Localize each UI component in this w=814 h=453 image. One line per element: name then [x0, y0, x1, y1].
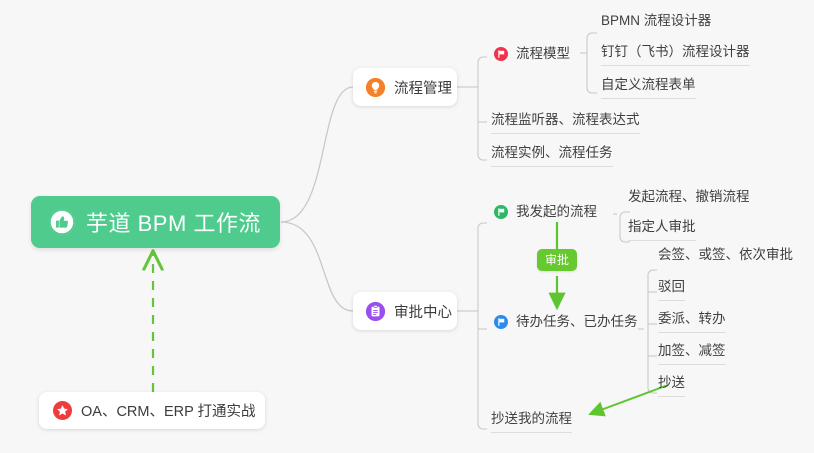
leaf-process-instance[interactable]: 流程实例、流程任务: [491, 146, 613, 167]
leaf-start-cancel-process[interactable]: 发起流程、撤销流程: [628, 190, 750, 210]
node-process-model-label: 流程模型: [516, 47, 570, 61]
leaf-assignee-approval[interactable]: 指定人审批: [628, 220, 696, 241]
thumbs-up-icon: [49, 209, 75, 235]
root-node[interactable]: 芋道 BPM 工作流: [31, 196, 280, 248]
branch-approval-center[interactable]: 审批中心: [353, 292, 457, 330]
leaf-reject[interactable]: 驳回: [658, 280, 685, 301]
node-my-initiated[interactable]: 我发起的流程: [494, 205, 597, 219]
node-process-model[interactable]: 流程模型: [494, 47, 570, 61]
note-card-label: OA、CRM、ERP 打通实战: [81, 400, 256, 421]
flag-icon: [494, 47, 508, 61]
leaf-custom-form[interactable]: 自定义流程表单: [601, 78, 696, 99]
branch-process-management-label: 流程管理: [394, 77, 452, 98]
branch-process-management[interactable]: 流程管理: [353, 68, 457, 106]
branch-approval-center-label: 审批中心: [394, 301, 452, 322]
lightbulb-icon: [366, 78, 385, 97]
flag-icon: [494, 315, 508, 329]
node-todo-done-tasks[interactable]: 待办任务、已办任务: [494, 315, 638, 329]
leaf-bpmn-designer[interactable]: BPMN 流程设计器: [601, 14, 711, 34]
leaf-delegate-transfer[interactable]: 委派、转办: [658, 312, 726, 333]
root-label: 芋道 BPM 工作流: [86, 206, 261, 238]
node-todo-done-tasks-label: 待办任务、已办任务: [516, 315, 638, 329]
note-card-integration[interactable]: OA、CRM、ERP 打通实战: [39, 392, 265, 429]
flag-icon: [494, 205, 508, 219]
mindmap-canvas: 芋道 BPM 工作流 流程管理 流程模型 BPMN 流程设计器 钉钉（飞书）流程…: [0, 0, 814, 453]
leaf-dingtalk-designer[interactable]: 钉钉（飞书）流程设计器: [601, 45, 750, 66]
leaf-add-remove-sign[interactable]: 加签、减签: [658, 344, 726, 365]
star-icon: [53, 401, 72, 420]
leaf-cc-to-me[interactable]: 抄送我的流程: [491, 412, 572, 433]
leaf-process-listener[interactable]: 流程监听器、流程表达式: [491, 113, 640, 134]
leaf-countersign[interactable]: 会签、或签、依次审批: [658, 248, 793, 268]
node-my-initiated-label: 我发起的流程: [516, 205, 597, 219]
annotation-badge-approval: 审批: [537, 249, 577, 271]
leaf-cc[interactable]: 抄送: [658, 376, 685, 397]
clipboard-icon: [366, 302, 385, 321]
